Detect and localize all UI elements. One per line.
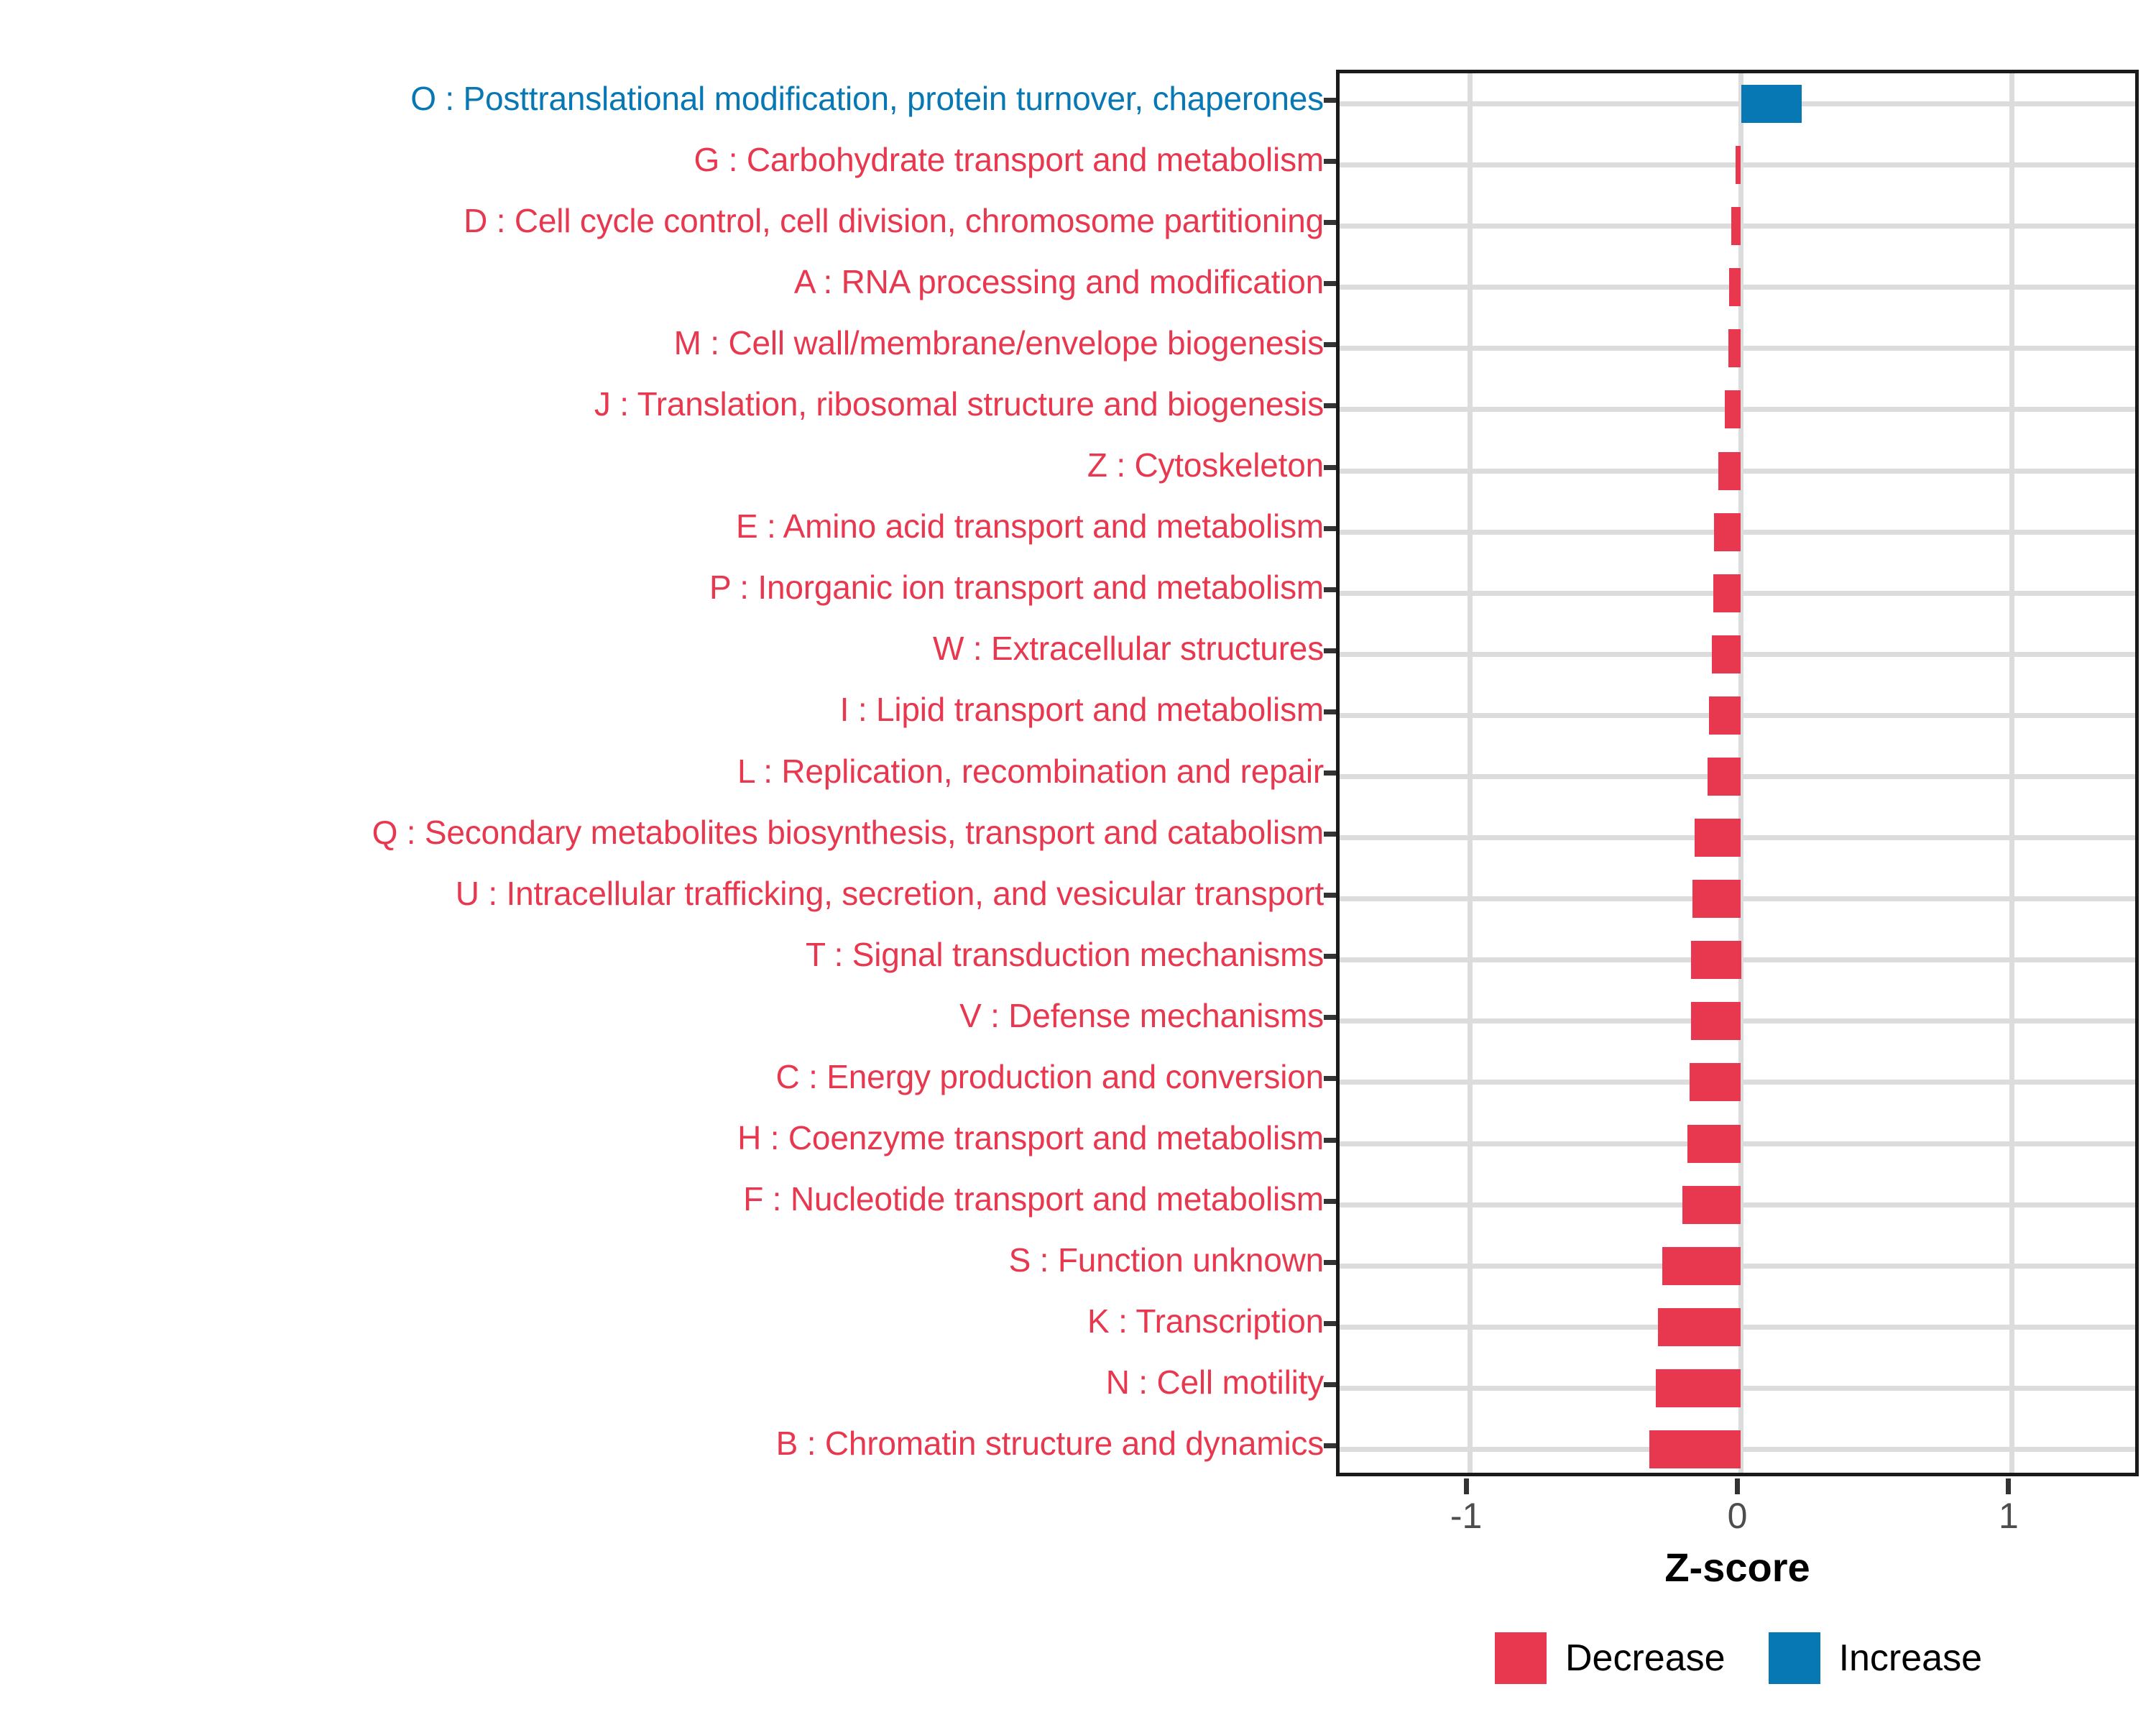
category-label: L : Replication, recombination and repai… [1,755,1324,788]
vertical-gridline [2009,73,2014,1473]
y-axis-tick [1324,954,1336,959]
y-axis-tick [1324,1076,1336,1081]
bar [1662,1247,1741,1285]
plot-area [1340,73,2135,1473]
bar [1714,513,1741,551]
bar [1691,941,1741,979]
category-label: J : Translation, ribosomal structure and… [1,387,1324,420]
category-label: S : Function unknown [1,1243,1324,1276]
legend-item[interactable]: Decrease [1495,1632,1726,1684]
legend-swatch [1495,1632,1547,1684]
bar [1682,1186,1741,1224]
x-axis-title: Z-score [1336,1544,2139,1591]
horizontal-gridline [1340,101,2135,106]
y-axis-tick [1324,1260,1336,1265]
bar [1741,85,1802,123]
y-axis-tick [1324,403,1336,408]
bar [1708,758,1741,796]
plot-panel [1336,70,2139,1476]
y-axis-tick [1324,893,1336,898]
x-axis-tick-label: 1 [1966,1495,2052,1537]
category-label: Z : Cytoskeleton [1,448,1324,482]
category-label: D : Cell cycle control, cell division, c… [1,204,1324,237]
category-label: B : Chromatin structure and dynamics [1,1427,1324,1460]
category-label: H : Coenzyme transport and metabolism [1,1121,1324,1154]
category-label: A : RNA processing and modification [1,265,1324,298]
legend-label: Decrease [1565,1637,1726,1680]
y-axis-tick [1324,709,1336,714]
y-axis-tick [1324,770,1336,776]
category-label: V : Defense mechanisms [1,999,1324,1032]
y-axis-tick [1324,1199,1336,1204]
y-axis-tick [1324,1015,1336,1020]
y-axis-tick [1324,648,1336,653]
bar [1718,452,1741,490]
bar [1658,1308,1741,1346]
y-axis-tick [1324,1382,1336,1387]
y-axis-tick [1324,1321,1336,1326]
bar [1692,880,1741,918]
category-label: Q : Secondary metabolites biosynthesis, … [1,816,1324,849]
bar [1656,1369,1741,1407]
y-axis-tick [1324,832,1336,837]
bar [1713,574,1741,612]
x-axis-tick [1735,1478,1740,1494]
category-label: P : Inorganic ion transport and metaboli… [1,571,1324,604]
y-axis-tick [1324,98,1336,103]
x-axis-tick-label: -1 [1423,1495,1509,1537]
category-label: K : Transcription [1,1305,1324,1338]
vertical-gridline [1468,73,1473,1473]
bar [1687,1125,1741,1163]
bar [1709,696,1741,735]
bar [1736,146,1741,184]
y-axis-tick [1324,465,1336,470]
legend-swatch [1769,1632,1820,1684]
category-label: U : Intracellular trafficking, secretion… [1,877,1324,910]
category-label: O : Posttranslational modification, prot… [1,82,1324,115]
category-axis-labels: O : Posttranslational modification, prot… [0,70,1330,1476]
y-axis-tick [1324,342,1336,347]
y-axis-tick [1324,1138,1336,1143]
bar [1695,819,1741,857]
y-axis-tick [1324,281,1336,286]
y-axis-tick [1324,220,1336,225]
bar [1691,1002,1741,1040]
bar [1690,1063,1741,1101]
x-axis-tick-label: 0 [1695,1495,1781,1537]
category-label: T : Signal transduction mechanisms [1,938,1324,971]
category-label: M : Cell wall/membrane/envelope biogenes… [1,326,1324,359]
category-label: N : Cell motility [1,1366,1324,1399]
category-label: C : Energy production and conversion [1,1060,1324,1093]
category-label: G : Carbohydrate transport and metabolis… [1,143,1324,176]
x-axis-tick [1464,1478,1469,1494]
category-label: F : Nucleotide transport and metabolism [1,1182,1324,1215]
y-axis-tick [1324,587,1336,592]
bar [1731,207,1741,245]
legend-label: Increase [1839,1637,1982,1680]
cog-zscore-bar-chart: O : Posttranslational modification, prot… [0,0,2156,1725]
category-label: I : Lipid transport and metabolism [1,693,1324,726]
y-axis-tick [1324,1443,1336,1448]
bar [1728,329,1741,367]
category-label: W : Extracellular structures [1,632,1324,665]
chart-legend: DecreaseIncrease [1495,1626,2025,1690]
y-axis-tick [1324,159,1336,164]
legend-item[interactable]: Increase [1769,1632,1982,1684]
x-axis-tick [2006,1478,2011,1494]
bar [1729,268,1741,306]
y-axis-tick [1324,526,1336,531]
bar [1712,635,1741,673]
bar [1649,1430,1741,1468]
category-label: E : Amino acid transport and metabolism [1,510,1324,543]
bar [1725,390,1741,428]
